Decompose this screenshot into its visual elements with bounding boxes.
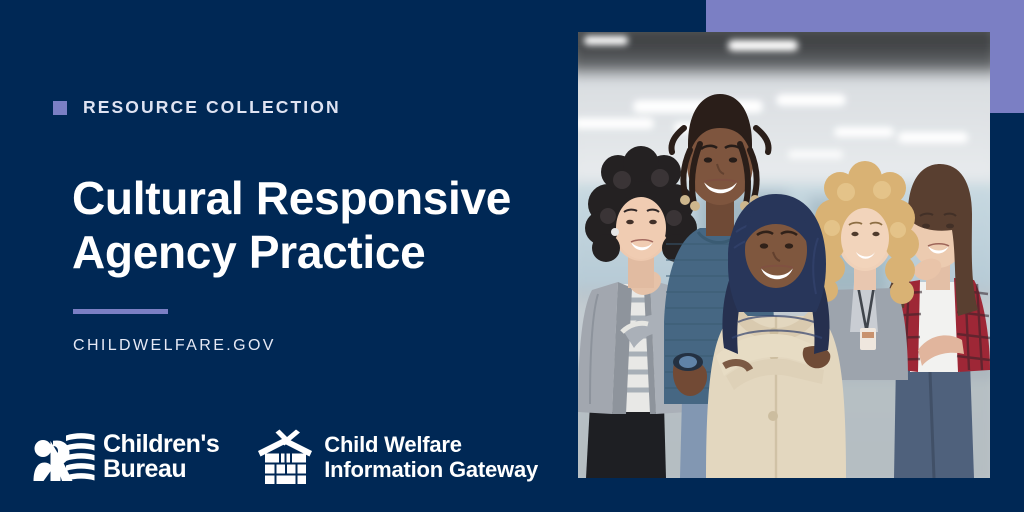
gateway-house-icon bbox=[257, 428, 315, 486]
childrens-bureau-line-2: Bureau bbox=[103, 457, 219, 482]
resource-collection-banner: RESOURCE COLLECTION Cultural Responsive … bbox=[0, 0, 1024, 512]
gateway-logo: Child Welfare Information Gateway bbox=[257, 428, 538, 486]
childrens-bureau-mark-icon bbox=[30, 429, 96, 485]
hero-photo bbox=[578, 32, 990, 478]
gateway-line-2: Information Gateway bbox=[324, 457, 538, 482]
square-bullet-icon bbox=[53, 101, 67, 115]
page-title-line-2: Agency Practice bbox=[72, 225, 542, 279]
childrens-bureau-wordmark: Children's Bureau bbox=[103, 432, 219, 482]
hero-photo-illustration bbox=[578, 32, 990, 478]
eyebrow-label: RESOURCE COLLECTION bbox=[83, 97, 341, 118]
site-url-label: CHILDWELFARE.GOV bbox=[73, 337, 276, 355]
divider bbox=[73, 309, 168, 314]
gateway-line-1: Child Welfare bbox=[324, 432, 538, 457]
childrens-bureau-logo: Children's Bureau bbox=[30, 429, 219, 485]
page-title: Cultural Responsive Agency Practice bbox=[72, 171, 542, 279]
eyebrow: RESOURCE COLLECTION bbox=[53, 97, 341, 118]
gateway-wordmark: Child Welfare Information Gateway bbox=[324, 432, 538, 482]
childrens-bureau-line-1: Children's bbox=[103, 432, 219, 457]
logo-row: Children's Bureau bbox=[30, 428, 538, 486]
page-title-line-1: Cultural Responsive bbox=[72, 171, 542, 225]
